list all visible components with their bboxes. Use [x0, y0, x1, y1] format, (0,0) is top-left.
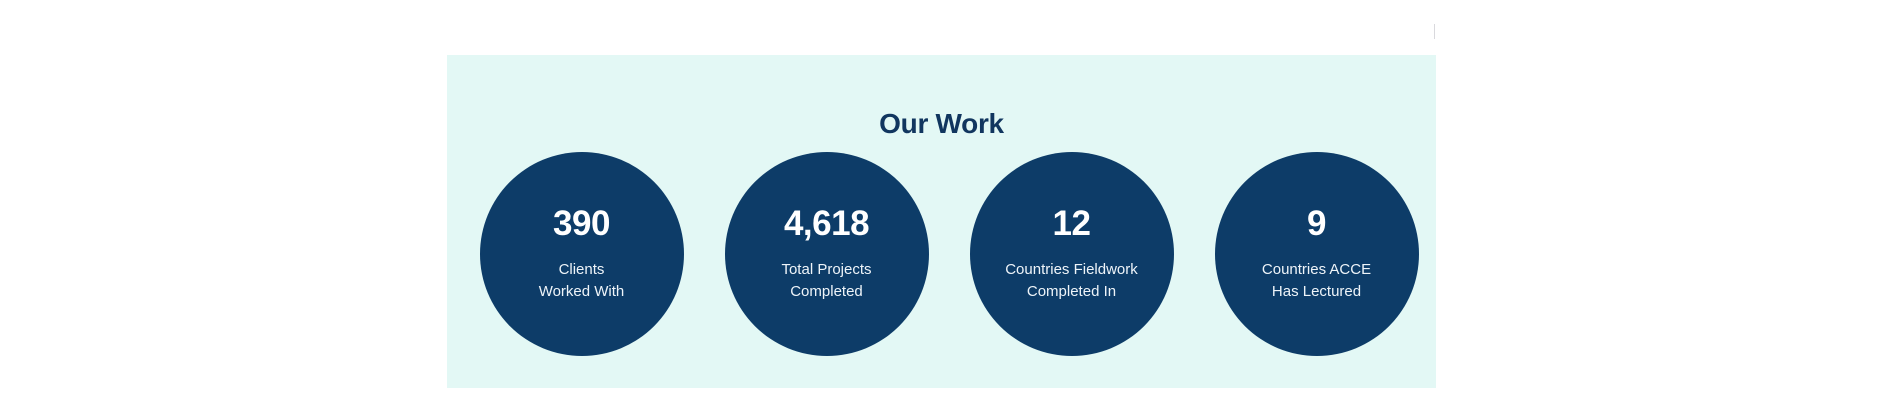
stat-label: Countries ACCE Has Lectured — [1252, 259, 1381, 303]
scroll-tick-mark — [1434, 24, 1435, 39]
stat-circle-total-projects: 4,618 Total Projects Completed — [725, 152, 929, 356]
stat-label: Clients Worked With — [529, 259, 635, 303]
stat-circle-countries-lectured: 9 Countries ACCE Has Lectured — [1215, 152, 1419, 356]
stat-label-line1: Total Projects — [781, 261, 871, 278]
stat-label-line2: Completed — [790, 283, 863, 300]
stat-value: 12 — [1053, 206, 1091, 241]
stats-row: 390 Clients Worked With 4,618 Total Proj… — [447, 152, 1436, 362]
stat-label-line1: Countries ACCE — [1262, 261, 1371, 278]
our-work-section: Our Work 390 Clients Worked With 4,618 T… — [447, 55, 1436, 388]
stat-circle-countries-fieldwork: 12 Countries Fieldwork Completed In — [970, 152, 1174, 356]
stat-value: 4,618 — [784, 206, 869, 241]
page-title: Our Work — [447, 109, 1436, 140]
stat-label-line1: Clients — [559, 261, 605, 278]
stat-label-line2: Completed In — [1027, 283, 1116, 300]
stat-circle-clients: 390 Clients Worked With — [480, 152, 684, 356]
stat-value: 9 — [1307, 206, 1326, 241]
stat-value: 390 — [553, 206, 610, 241]
stat-label: Countries Fieldwork Completed In — [995, 259, 1148, 303]
stat-label-line2: Worked With — [539, 283, 625, 300]
stat-label-line1: Countries Fieldwork — [1005, 261, 1138, 278]
stat-label-line2: Has Lectured — [1272, 283, 1361, 300]
stat-label: Total Projects Completed — [771, 259, 881, 303]
